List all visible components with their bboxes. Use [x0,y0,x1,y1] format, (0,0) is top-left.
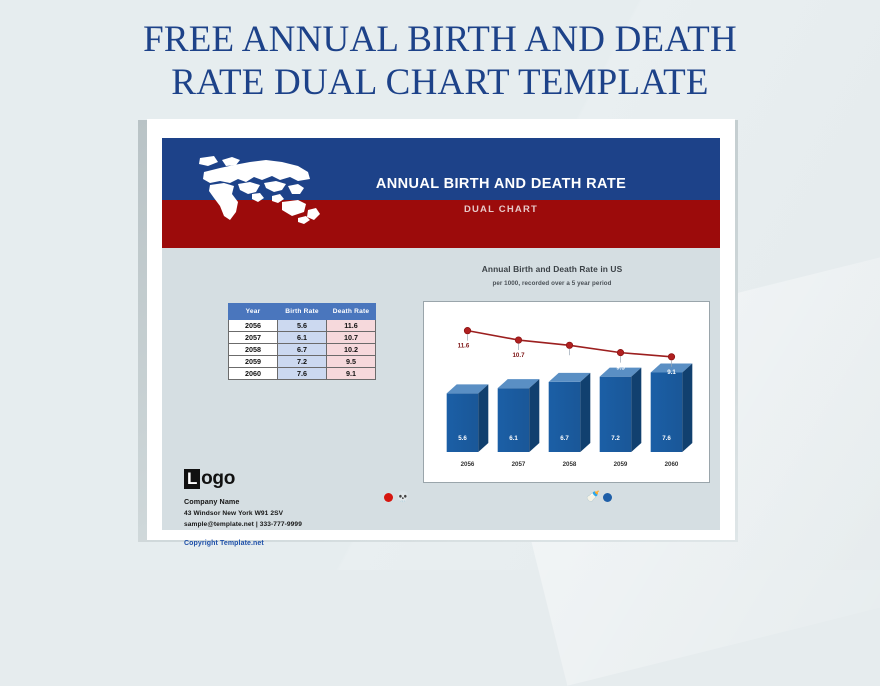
banner-subheading: DUAL CHART [162,204,720,215]
svg-text:10.2: 10.2 [563,357,576,364]
svg-text:7.2: 7.2 [611,435,620,442]
baby-bottle-icon: 🍼 [586,492,600,503]
cell-year: 2059 [229,356,278,368]
cell-death-rate: 9.1 [327,368,376,380]
logo: Logo [184,468,484,490]
company-name: Company Name [184,497,484,506]
svg-text:6.7: 6.7 [560,435,569,442]
table-header-row: Year Birth Rate Death Rate [229,304,376,320]
svg-text:9.5: 9.5 [616,365,625,372]
logo-text: ogo [201,468,235,490]
table-header-birth: Birth Rate [278,304,327,320]
banner-titles: ANNUAL BIRTH AND DEATH RATE DUAL CHART [162,138,720,248]
page-title: FREE ANNUAL BIRTH AND DEATH RATE DUAL CH… [0,18,880,105]
cell-birth-rate: 7.6 [278,368,327,380]
copyright-link[interactable]: Copyright Template.net [184,540,484,547]
company-address: 43 Windsor New York W91 2SV [184,510,484,517]
svg-text:2056: 2056 [461,461,475,468]
table-header-year: Year [229,304,278,320]
table-row[interactable]: 2060 7.6 9.1 [229,368,376,380]
company-contact: sample@template.net | 333-777-9999 [184,521,484,528]
chart-subtitle: per 1000, recorded over a 5 year period [392,280,712,287]
cell-year: 2060 [229,368,278,380]
dual-chart-plot-area: 5.66.16.77.27.6 11.610.710.29.59.1 20562… [423,301,710,483]
footer-block: Logo Company Name 43 Windsor New York W9… [184,468,484,547]
legend-item-birth-rate[interactable]: 🍼 [586,492,612,503]
table-row[interactable]: 2059 7.2 9.5 [229,356,376,368]
table-header-death: Death Rate [327,304,376,320]
svg-text:2060: 2060 [665,461,679,468]
cell-death-rate: 9.5 [327,356,376,368]
cell-birth-rate: 6.7 [278,344,327,356]
svg-text:2058: 2058 [563,461,577,468]
cell-birth-rate: 5.6 [278,320,327,332]
cell-death-rate: 10.2 [327,344,376,356]
document-page: ANNUAL BIRTH AND DEATH RATE DUAL CHART Y… [147,119,735,540]
svg-text:11.6: 11.6 [458,343,470,350]
svg-text:2057: 2057 [512,461,526,468]
table-row[interactable]: 2056 5.6 11.6 [229,320,376,332]
svg-text:6.1: 6.1 [509,435,518,442]
cell-death-rate: 11.6 [327,320,376,332]
cell-year: 2056 [229,320,278,332]
page-title-line-2: RATE DUAL CHART TEMPLATE [0,61,880,104]
logo-letter-badge: L [184,469,200,489]
svg-text:10.7: 10.7 [512,352,525,359]
svg-text:2059: 2059 [614,461,628,468]
chart-svg: 5.66.16.77.27.6 11.610.710.29.59.1 20562… [424,302,709,482]
cell-year: 2057 [229,332,278,344]
svg-text:7.6: 7.6 [662,435,671,442]
cell-death-rate: 10.7 [327,332,376,344]
svg-text:5.6: 5.6 [458,435,467,442]
rates-table: Year Birth Rate Death Rate 2056 5.6 11.6… [228,303,376,380]
blue-dot-icon [603,493,612,502]
banner-heading: ANNUAL BIRTH AND DEATH RATE [162,176,720,192]
cell-birth-rate: 7.2 [278,356,327,368]
chart-title: Annual Birth and Death Rate in US [392,264,712,274]
document-canvas: ANNUAL BIRTH AND DEATH RATE DUAL CHART Y… [162,138,720,530]
page-title-line-1: FREE ANNUAL BIRTH AND DEATH [0,18,880,61]
table-row[interactable]: 2058 6.7 10.2 [229,344,376,356]
cell-year: 2058 [229,344,278,356]
table-row[interactable]: 2057 6.1 10.7 [229,332,376,344]
cell-birth-rate: 6.1 [278,332,327,344]
data-table-wrapper: Year Birth Rate Death Rate 2056 5.6 11.6… [228,303,376,380]
header-banner: ANNUAL BIRTH AND DEATH RATE DUAL CHART [162,138,720,248]
footer-divider [184,534,454,535]
svg-text:9.1: 9.1 [667,369,676,376]
